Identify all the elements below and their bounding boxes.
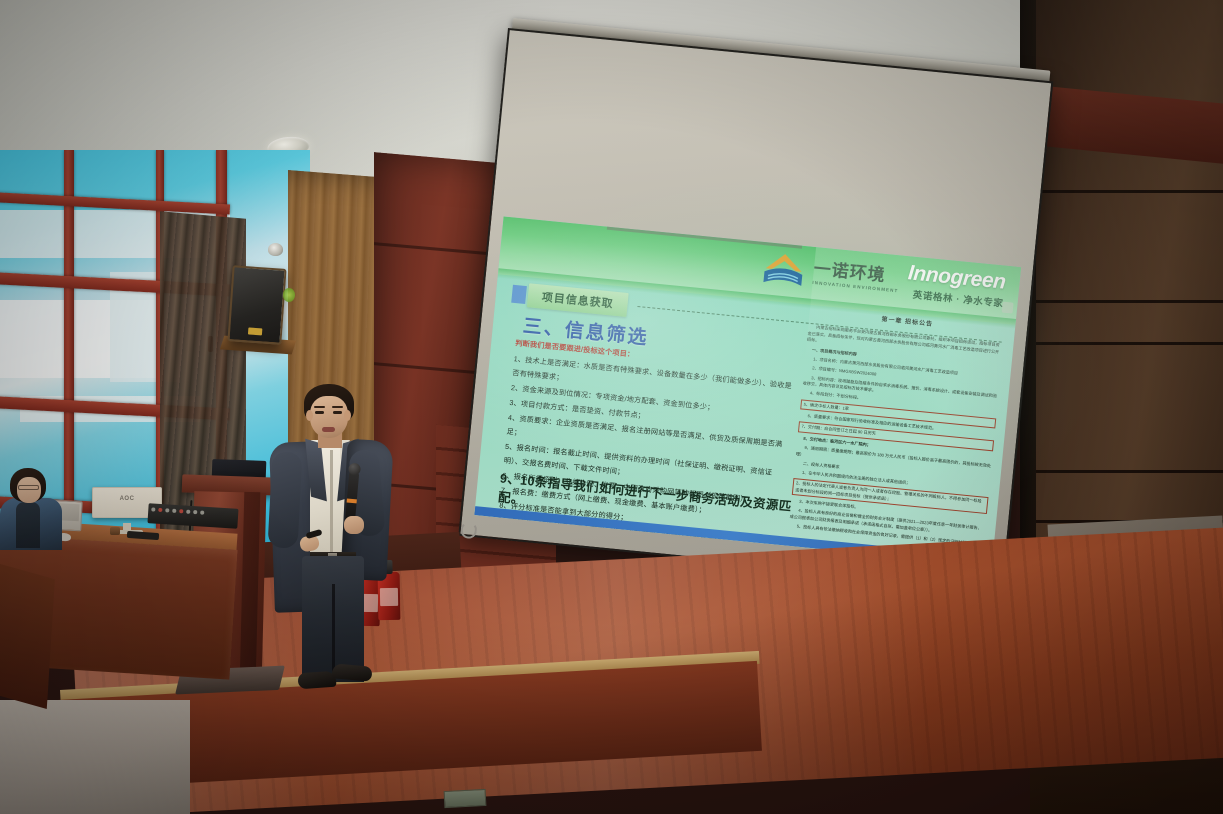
control-desk-side [0, 560, 55, 709]
lower-floor [0, 700, 190, 814]
presenter-right-hand [344, 516, 364, 534]
badge-square-icon [511, 285, 527, 304]
mixer-knob-icon[interactable] [165, 508, 169, 512]
presenter-mouth [322, 427, 335, 432]
operator-face [17, 477, 41, 503]
operator-vest [16, 502, 40, 548]
loudspeaker [227, 265, 286, 345]
mixer-knob-icon[interactable] [151, 507, 155, 511]
presenter-left-arm [268, 451, 303, 548]
speaker-badge-icon [248, 327, 262, 335]
mixer-knob-icon[interactable] [200, 510, 204, 514]
presenter-ear [306, 410, 313, 421]
presenter [256, 384, 406, 714]
mixer-knob-icon[interactable] [179, 509, 183, 513]
wall-indicator-icon [283, 288, 295, 302]
conference-room-photo: ▶ 0:24 / 01:14 ⛶ ⋮ 一诺环境 INNOVATION ENVIR… [0, 0, 1223, 814]
mixer-knob-icon[interactable] [186, 510, 190, 514]
cup [110, 527, 120, 535]
projected-slide: ▶ 0:24 / 01:14 ⛶ ⋮ 一诺环境 INNOVATION ENVIR… [474, 216, 1021, 565]
presenter-ear [344, 410, 351, 421]
slide-nav-chip-icon[interactable] [1002, 302, 1014, 314]
mixer-knob-icon[interactable] [172, 509, 176, 513]
mixer-knob-icon[interactable] [193, 510, 197, 514]
projection-screen[interactable]: ▶ 0:24 / 01:14 ⛶ ⋮ 一诺环境 INNOVATION ENVIR… [458, 28, 1053, 589]
eyeglasses-icon [18, 485, 39, 490]
mixer-knob-row[interactable] [151, 507, 204, 514]
shirt-placket [330, 450, 333, 554]
presenter-eye [315, 411, 324, 414]
monitor-brand-label: AOC [120, 496, 135, 502]
seated-operator [2, 468, 72, 548]
floor-socket-cover[interactable] [444, 789, 487, 808]
slide-document-panel: 第一章 招标公告 内蒙古招标采购服务平台受内蒙古黄河西部水务股份有限公司委托，组… [788, 309, 1005, 549]
shoe-left [297, 671, 336, 690]
microphone-ring-icon [347, 499, 357, 504]
mountain-logo-icon [760, 248, 807, 290]
dome-camera-icon [268, 243, 283, 256]
presenter-eye [333, 411, 342, 414]
mixer-knob-icon[interactable] [158, 508, 162, 512]
